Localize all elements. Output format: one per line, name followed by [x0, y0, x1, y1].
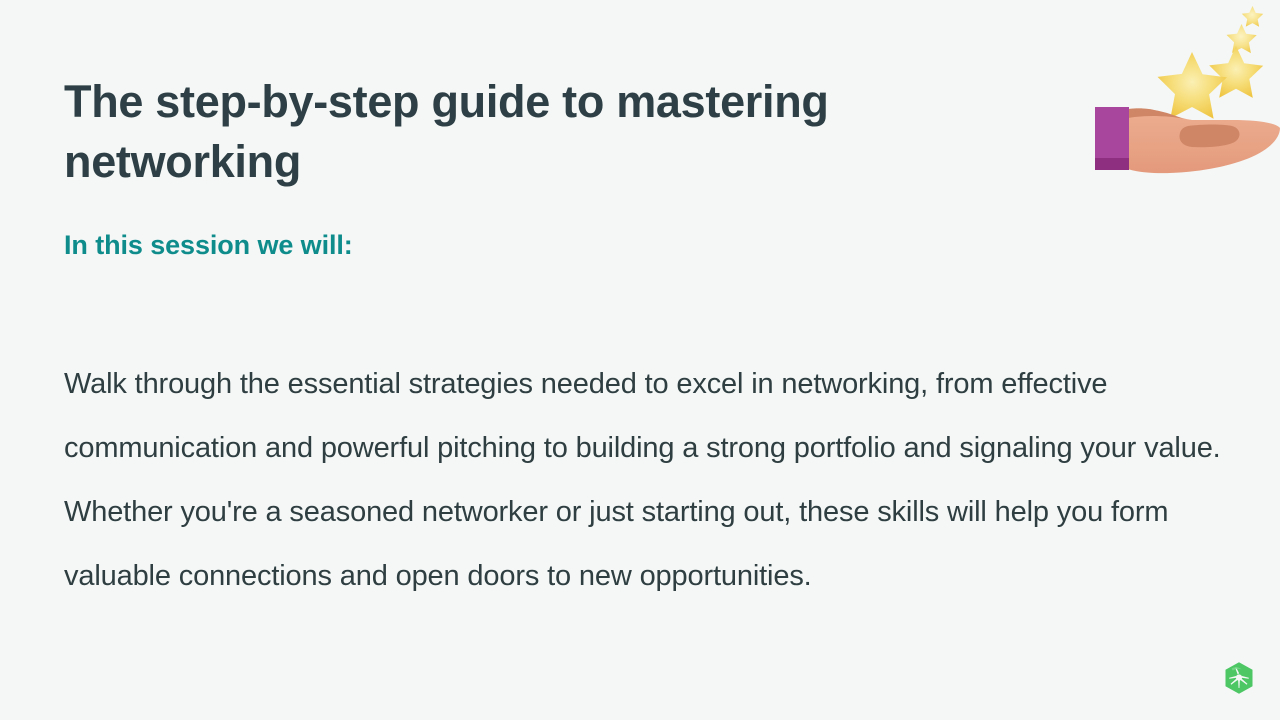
star-small-icon [1242, 6, 1263, 27]
star-large-icon [1158, 52, 1227, 119]
hand-icon [1102, 108, 1280, 173]
session-description: Walk through the essential strategies ne… [64, 352, 1224, 608]
session-heading: In this session we will: [64, 226, 353, 264]
brand-logo [1219, 659, 1259, 699]
star-medium-small-icon [1227, 24, 1257, 53]
hand-holding-stars-icon [1080, 0, 1280, 190]
star-medium-icon [1209, 46, 1263, 98]
slide-canvas: The step-by-step guide to mastering netw… [0, 0, 1280, 720]
sleeve-cuff [1095, 107, 1129, 170]
page-title: The step-by-step guide to mastering netw… [64, 72, 984, 192]
